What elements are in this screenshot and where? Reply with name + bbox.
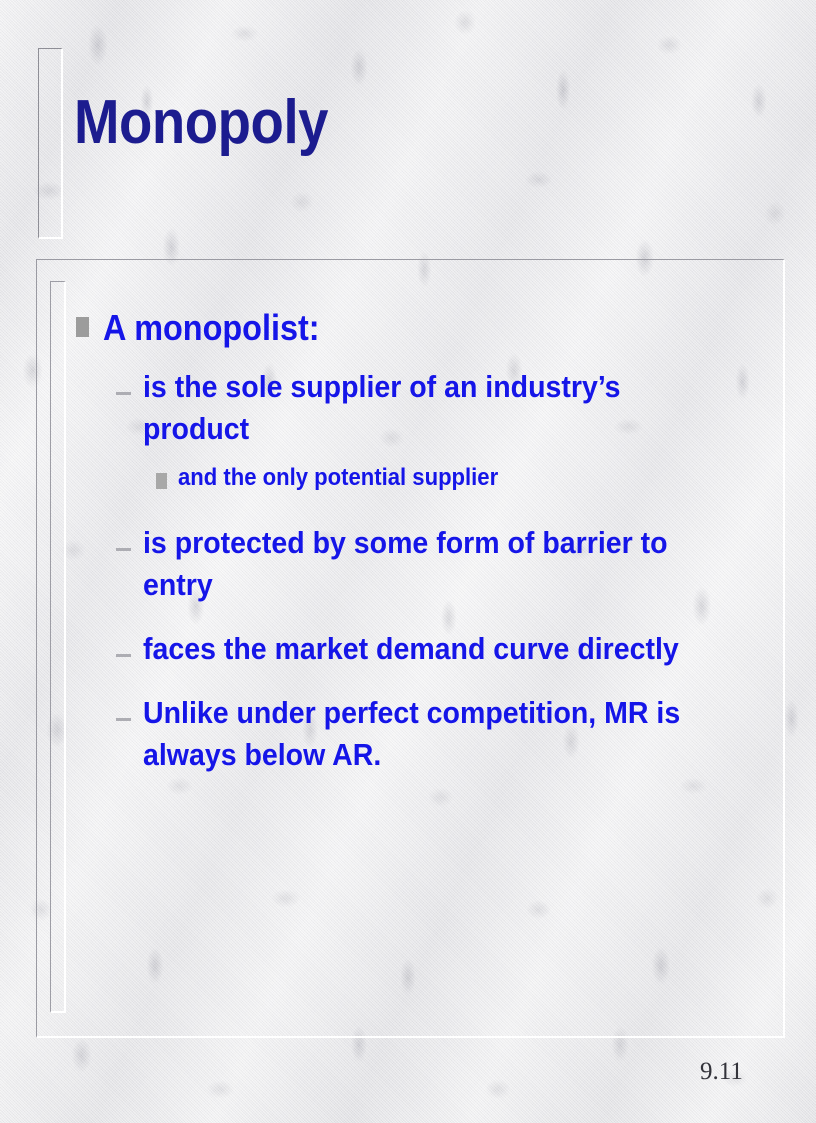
bullet-text: is protected by some form of barrier to … <box>143 522 713 606</box>
square-bullet-icon <box>76 317 89 337</box>
title-accent-bar <box>38 48 63 239</box>
bullet-list: A monopolist: is the sole supplier of an… <box>76 306 776 788</box>
list-item: Unlike under perfect competition, MR is … <box>116 692 776 776</box>
list-item: is protected by some form of barrier to … <box>116 522 776 606</box>
bullet-text: A monopolist: <box>103 306 320 350</box>
list-item: and the only potential supplier <box>156 462 776 494</box>
dash-bullet-icon <box>116 718 131 721</box>
slide-canvas: Monopoly A monopolist: is the sole suppl… <box>0 0 816 1123</box>
dash-bullet-icon <box>116 654 131 657</box>
small-square-bullet-icon <box>156 473 167 489</box>
bullet-text: Unlike under perfect competition, MR is … <box>143 692 713 776</box>
dash-bullet-icon <box>116 548 131 551</box>
content-accent-bar <box>50 281 66 1013</box>
dash-bullet-icon <box>116 392 131 395</box>
list-item: faces the market demand curve directly <box>116 628 776 670</box>
list-item: A monopolist: <box>76 306 776 350</box>
page-number: 9.11 <box>700 1058 790 1086</box>
bullet-text: and the only potential supplier <box>178 462 498 494</box>
bullet-text: faces the market demand curve directly <box>143 628 679 670</box>
list-item: is the sole supplier of an industry’s pr… <box>116 366 776 450</box>
page-title: Monopoly <box>74 92 690 154</box>
bullet-text: is the sole supplier of an industry’s pr… <box>143 366 713 450</box>
